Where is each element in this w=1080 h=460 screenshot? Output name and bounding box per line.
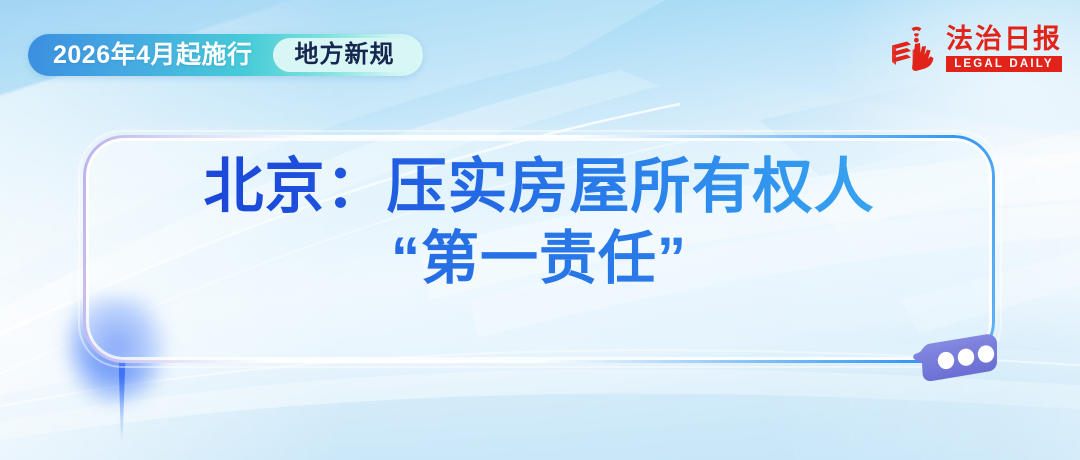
publisher-name-cn: 法治日报 [946, 25, 1062, 53]
poster-canvas: 北京：压实房屋所有权人 “第一责任” 2026年4月起施行 地方新规 [0, 0, 1080, 460]
publisher-logo[interactable]: 法治日报 LEGAL DAILY [887, 22, 1062, 74]
publisher-name-en: LEGAL DAILY [946, 56, 1062, 72]
chat-bubble-ellipsis-icon [908, 330, 1000, 384]
book-stack-hand-wifi-icon [887, 22, 939, 74]
rounded-glass-frame [86, 138, 992, 360]
publisher-logo-text: 法治日报 LEGAL DAILY [946, 25, 1062, 72]
effective-date-badge[interactable]: 2026年4月起施行 地方新规 [28, 34, 423, 76]
effective-date-label: 2026年4月起施行 [28, 34, 273, 76]
category-pill: 地方新规 [273, 38, 417, 72]
